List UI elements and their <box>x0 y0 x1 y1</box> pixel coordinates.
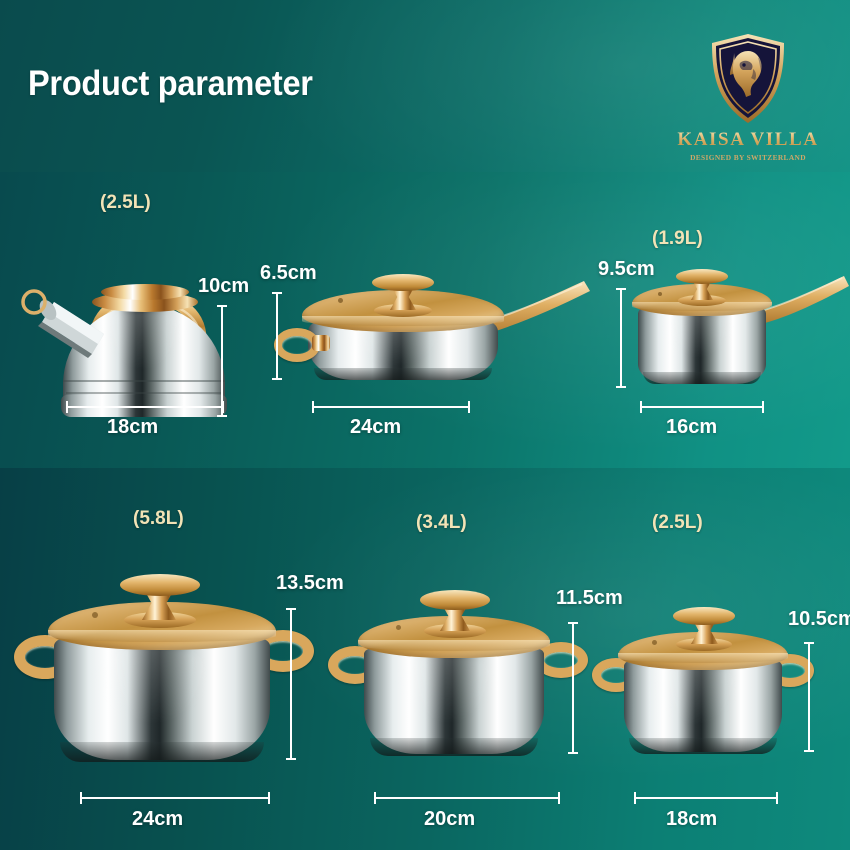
product-milk-pan: (1.9L) 9.5cm 16cm <box>590 180 850 450</box>
height-label: 6.5cm <box>260 262 317 285</box>
brand-name: KAISA VILLA <box>668 129 828 151</box>
volume-label: (1.9L) <box>652 228 703 250</box>
volume-label: (5.8L) <box>133 508 184 530</box>
width-label: 20cm <box>424 808 475 831</box>
height-label: 10cm <box>198 275 249 298</box>
volume-label: (2.5L) <box>652 512 703 534</box>
height-dimension-line <box>572 622 574 754</box>
height-dimension-line <box>290 608 292 760</box>
volume-label: (2.5L) <box>100 192 151 214</box>
product-stockpot-small: (2.5L) 10.5cm 18cm <box>580 490 850 850</box>
width-dimension-line <box>312 406 470 408</box>
lion-shield-icon <box>710 33 786 125</box>
width-label: 24cm <box>350 416 401 439</box>
width-dimension-line <box>80 797 270 799</box>
product-whistling-kettle: (2.5L) <box>0 180 270 450</box>
width-dimension-line <box>640 406 764 408</box>
volume-label: (3.4L) <box>416 512 467 534</box>
width-dimension-line <box>634 797 778 799</box>
width-label: 16cm <box>666 416 717 439</box>
height-dimension-line <box>620 288 622 388</box>
product-parameter-page: Product parameter KAISA VILLA DESIGNED B… <box>0 0 850 850</box>
width-dimension-line <box>374 797 560 799</box>
page-title: Product parameter <box>28 64 313 104</box>
brand-logo: KAISA VILLA DESIGNED BY SWITZERLAND <box>668 33 828 163</box>
height-dimension-line <box>808 642 810 752</box>
width-dimension-line <box>66 406 224 408</box>
width-label: 18cm <box>666 808 717 831</box>
width-label: 18cm <box>107 416 158 439</box>
height-label: 10.5cm <box>788 608 850 631</box>
product-stockpot-large: (5.8L) 13.5cm 24cm <box>0 490 340 850</box>
height-label: 9.5cm <box>598 258 655 281</box>
product-stockpot-medium: (3.4L) 11.5cm 20cm <box>320 490 620 850</box>
height-dimension-line <box>276 292 278 380</box>
brand-tagline: DESIGNED BY SWITZERLAND <box>668 153 828 162</box>
width-label: 24cm <box>132 808 183 831</box>
product-frying-pan: 6.5cm 24cm <box>262 180 582 450</box>
